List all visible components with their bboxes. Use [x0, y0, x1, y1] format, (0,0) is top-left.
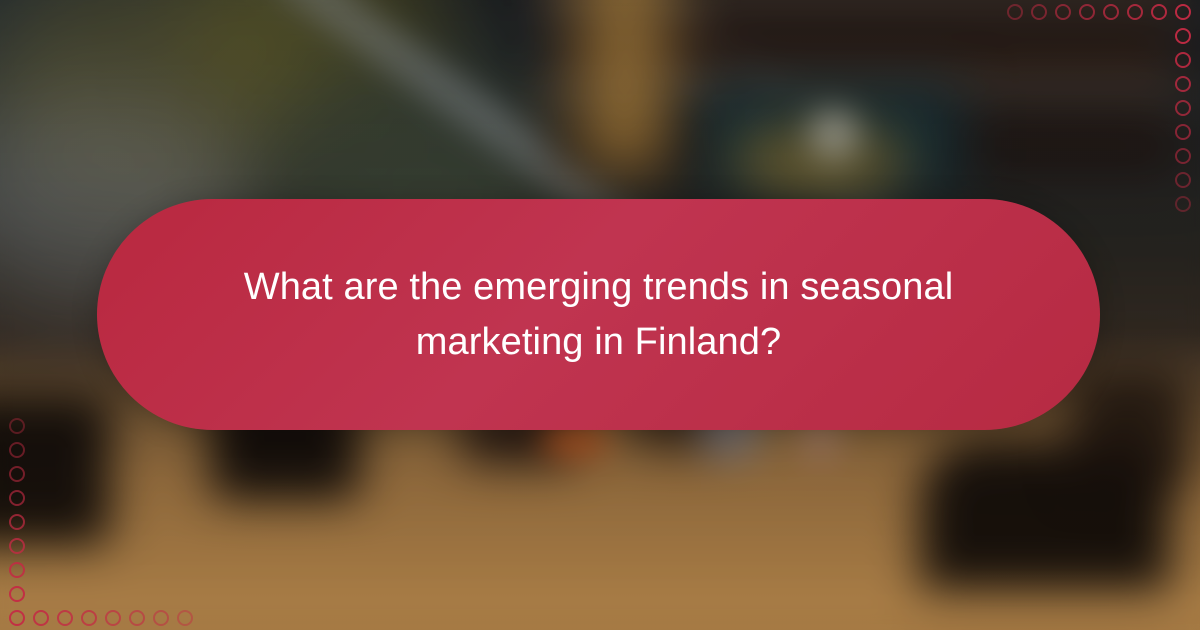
question-text: What are the emerging trends in seasonal… [199, 260, 999, 370]
question-card: What are the emerging trends in seasonal… [97, 199, 1100, 430]
question-card-graphic: What are the emerging trends in seasonal… [0, 0, 1200, 630]
